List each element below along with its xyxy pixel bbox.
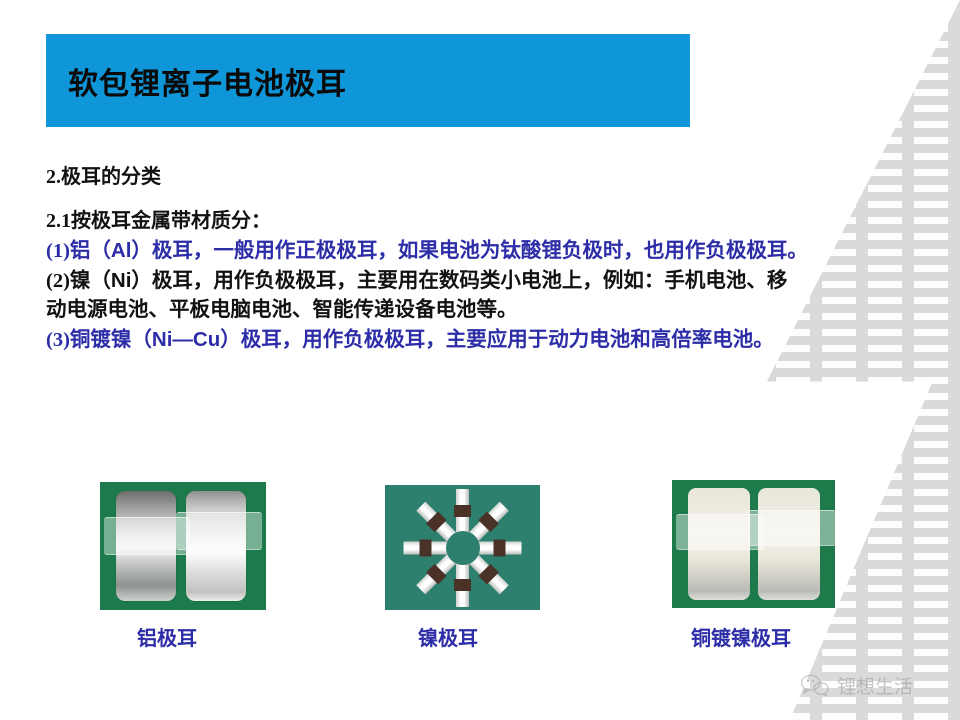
figure-row <box>0 478 880 618</box>
caption-aluminium: 铝极耳 <box>137 622 197 651</box>
aluminium-tab-photo <box>100 482 266 610</box>
body-text: 2.极耳的分类 2.1按极耳金属带材质分： (1)铝（Al）极耳，一般用作正极极… <box>46 162 926 355</box>
sealant-band <box>748 510 835 546</box>
slide: 软包锂离子电池极耳 2.极耳的分类 2.1按极耳金属带材质分： (1)铝（Al）… <box>0 0 960 720</box>
item-marker-3: (3) <box>46 329 70 351</box>
title-banner: 软包锂离子电池极耳 <box>46 34 690 127</box>
list-item-aluminium: (1)铝（Al）极耳，一般用作正极极耳，如果电池为钛酸锂负极时，也用作负极极耳。 <box>46 236 926 266</box>
item-text-before-3: 铜镀镍（ <box>70 329 152 351</box>
wechat-icon <box>800 672 830 698</box>
item-text-after-2: ）极耳，用作负极极耳，主要用在数码类小电池上，例如：手机电池、移 <box>131 270 787 292</box>
nickel-copper-tab-photo <box>672 480 835 608</box>
item-symbol-nicu: Ni—Cu <box>152 328 220 351</box>
subsection-heading: 2.1按极耳金属带材质分： <box>46 206 926 236</box>
section-heading: 2.极耳的分类 <box>46 162 926 192</box>
item-text-before-1: 铝（ <box>70 240 111 262</box>
sealant-band <box>176 512 262 550</box>
item-text-before-2: 镍（ <box>70 270 111 292</box>
spacer <box>46 192 926 206</box>
list-item-nickel-copper: (3)铜镀镍（Ni—Cu）极耳，用作负极极耳，主要应用于动力电池和高倍率电池。 <box>46 325 926 355</box>
item-text-after-1: ）极耳，一般用作正极极耳，如果电池为钛酸锂负极时，也用作负极极耳。 <box>131 240 808 262</box>
item-text-after-3: ）极耳，用作负极极耳，主要应用于动力电池和高倍率电池。 <box>220 329 774 351</box>
caption-nickel: 镍极耳 <box>418 622 478 651</box>
item-symbol-ni: Ni <box>111 269 132 292</box>
list-item-nickel: (2)镍（Ni）极耳，用作负极极耳，主要用在数码类小电池上，例如：手机电池、移 <box>46 266 926 296</box>
nickel-tab-photo <box>385 485 540 610</box>
item-symbol-al: Al <box>111 239 132 262</box>
watermark-text: 锂想生活 <box>837 672 913 699</box>
figure-captions: 铝极耳 镍极耳 铜镀镍极耳 <box>0 622 960 656</box>
caption-nickel-copper: 铜镀镍极耳 <box>691 622 791 651</box>
center-hub <box>448 533 478 563</box>
list-item-nickel-continuation: 动电源电池、平板电脑电池、智能传递设备电池等。 <box>46 296 926 325</box>
item-marker-2: (2) <box>46 270 70 292</box>
page-title: 软包锂离子电池极耳 <box>68 59 347 103</box>
watermark: 锂想生活 <box>800 668 913 702</box>
item-marker-1: (1) <box>46 240 70 262</box>
